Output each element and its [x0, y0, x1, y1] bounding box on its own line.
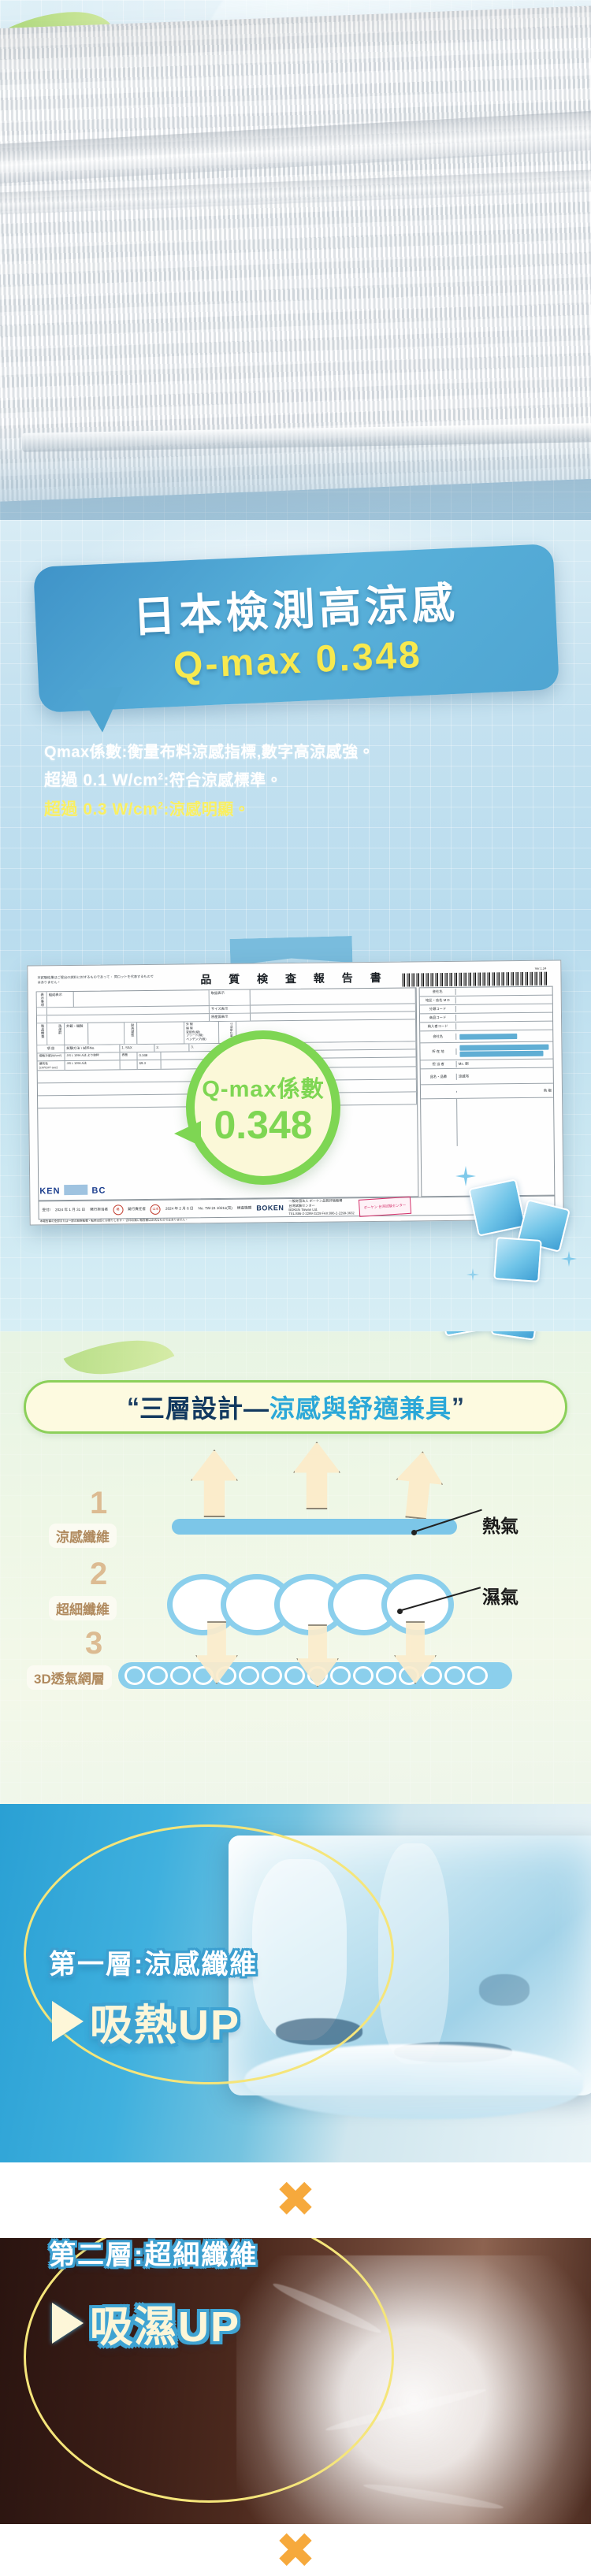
- cell-label: 表示事項: [37, 992, 47, 1007]
- cell-label: 洗濯前: [47, 1023, 65, 1045]
- appearance-row: ペンデング(級): [186, 1037, 206, 1041]
- result-cond: [121, 1060, 138, 1069]
- barcode-icon: [402, 972, 548, 987]
- certificate-section: 本試験結果はご提出の試料に対するものであって、 同ロットを代表するものではありま…: [0, 930, 591, 1331]
- seal-stamp-icon: 楊: [113, 1204, 123, 1215]
- play-triangle-icon: [52, 2001, 84, 2042]
- table-row: 会社名: [420, 1030, 552, 1044]
- mesh-hole-icon: [284, 1666, 305, 1685]
- hero-bottom-shade: [0, 425, 591, 520]
- cell-value: [137, 1023, 184, 1045]
- callout-heat: 熱氣: [482, 1511, 519, 1538]
- mesh-hole-icon: [330, 1666, 351, 1685]
- three-layer-heading: “ 三層設計— 涼感與舒適兼具 ”: [24, 1380, 567, 1434]
- desc3-rest: :涼感明顯。: [164, 801, 251, 818]
- mesh-hole-icon: [125, 1666, 145, 1685]
- boken-org: 一般財団法人: [288, 1199, 308, 1203]
- table-row: [421, 1098, 554, 1147]
- result-value: 69.3: [138, 1060, 162, 1069]
- col-header: 試験方法 \ 試料No.: [65, 1045, 120, 1052]
- result-method: JIS L 1096 A法 より抜粋: [65, 1052, 120, 1060]
- layer-number-3: 3: [85, 1626, 102, 1661]
- cell-value: [88, 1023, 125, 1044]
- boken-logo: BOKEN: [256, 1204, 284, 1212]
- result-item: 接触冷感(W/cm²): [37, 1053, 65, 1060]
- ice-cube-icon: [468, 1179, 526, 1237]
- layer2-photo-section: 第二層:超細纖維 吸濕UP ✖: [0, 2238, 591, 2576]
- heading-part-accent: 涼感與舒適兼具: [269, 1389, 452, 1425]
- mesh-hole-icon: [170, 1666, 191, 1685]
- product-detail-page: 日本檢測高涼感 Q-max 0.348 Qmax係數:衡量布料涼感指標,數字高涼…: [0, 0, 591, 2576]
- section-divider-2: ✖: [0, 2524, 591, 2576]
- appearance-row: ブリード(級): [186, 1034, 203, 1037]
- mesh-hole-icon: [376, 1666, 396, 1685]
- row-value: [456, 1008, 552, 1010]
- inspector-label: 検査機関: [237, 1206, 251, 1211]
- cell-label: 耐洗濯性: [125, 1023, 137, 1044]
- layer1-photo-section: 第一層:涼感纖維 吸熱UP: [0, 1804, 591, 2162]
- quote-open: “: [127, 1393, 139, 1422]
- mesh-hole-icon: [239, 1666, 259, 1685]
- callout-moisture: 濕氣: [482, 1582, 519, 1609]
- layer2-title: 第二層:超細纖維: [49, 2238, 258, 2272]
- heading-part-dark: 三層設計—: [139, 1389, 269, 1425]
- cell-value: [251, 988, 416, 1004]
- qmax-badge: Q-max係數 0.348: [186, 1030, 340, 1185]
- mesh-hole-icon: [467, 1666, 488, 1685]
- report-right-table: 会社名 地区・店名 M D 分類コード 商品コード 納入者コード 会社名 所 在…: [419, 986, 556, 1197]
- cell-label: 製品検査: [37, 1023, 47, 1045]
- row-value: [456, 1016, 552, 1019]
- ice-shadow: [479, 1974, 530, 2006]
- layer-label-3: 3D透氣網層: [27, 1665, 112, 1690]
- row-value: [456, 990, 552, 993]
- receipt-label: 受付/: [43, 1208, 51, 1212]
- redacted-bar: [459, 1034, 517, 1040]
- row-value: Ms. 劉: [457, 1060, 553, 1067]
- qmax-banner-line2: Q-max 0.348: [173, 633, 423, 687]
- desc3-lead: 超過 0.3 W/cm: [44, 800, 158, 818]
- desc2-sup: 2: [158, 770, 163, 781]
- mesh-hole-icon: [262, 1666, 282, 1685]
- boken-org2: ボーケン品質評価機構: [310, 1198, 343, 1202]
- row-label: 会社名: [420, 1034, 456, 1040]
- mesh-hole-icon: [147, 1666, 168, 1685]
- boken-org-block: 一般財団法人 ボーケン品質評価機構 台湾試験センター BOKEN Taiwan …: [288, 1198, 355, 1216]
- qmax-banner-section: 日本檢測高涼感 Q-max 0.348 Qmax係數:衡量布料涼感指標,數字高涼…: [0, 520, 591, 930]
- col-header: 項 目: [37, 1045, 65, 1052]
- result-cond: 表面: [120, 1052, 137, 1060]
- qmax-description: Qmax係數:衡量布料涼感指標,數字高涼感強。 超過 0.1 W/cm2:符合涼…: [44, 739, 556, 825]
- qmax-badge-value: 0.348: [214, 1105, 312, 1145]
- table-row: 品名・品番涼感布: [421, 1068, 553, 1086]
- section-divider-1: ✖: [0, 2162, 591, 2238]
- cell-label: 原産国表示: [210, 1014, 251, 1022]
- footer-disclaimer: 本報告書の全部または一部の無断転載・転用は固くお断りします。 公印の無い報告書は…: [40, 1218, 188, 1223]
- row-value: [456, 999, 552, 1001]
- cell-spacer: [37, 1015, 47, 1023]
- appearance-row: 縫 製: [186, 1026, 193, 1030]
- ice-cube-icon: [493, 1237, 542, 1282]
- result-method: JIS L 1096 A法: [65, 1060, 121, 1070]
- result-item: 通気性(cm³/cm²·sec): [38, 1061, 65, 1070]
- play-triangle-icon: [52, 2303, 84, 2344]
- report-version: Ver.1.24: [535, 967, 547, 971]
- mesh-hole-icon: [353, 1666, 374, 1685]
- row-label: [421, 1099, 458, 1146]
- quote-close: ”: [452, 1393, 464, 1422]
- issue-date: 2024 年 2 月 6 日: [165, 1206, 194, 1211]
- table-row: 色 版: [421, 1084, 553, 1100]
- row-label: [421, 1090, 457, 1092]
- row-value: [456, 1025, 552, 1027]
- row-label: 分類コード: [420, 1006, 456, 1012]
- desc3-sup: 2: [158, 800, 163, 811]
- layer1-headline-text: 吸熱UP: [90, 1990, 240, 2052]
- desc2-rest: :符合涼感標準。: [164, 772, 283, 789]
- row-label: 納入者コード: [420, 1023, 456, 1030]
- issuer-resp-label: 発行責任者: [128, 1207, 146, 1212]
- layer2-headline: 吸濕UP: [52, 2292, 240, 2354]
- hero-product-photo: [0, 0, 591, 520]
- redacted-bar: [459, 1045, 548, 1051]
- row-label: 商品コード: [420, 1015, 456, 1021]
- row-label: 地区・店名 M D: [420, 997, 456, 1004]
- layer1-headline: 吸熱UP: [52, 1990, 240, 2052]
- fiber-strand: [362, 2481, 504, 2512]
- seal-stamp-icon: 山本: [151, 1204, 161, 1214]
- close-icon: ✖: [275, 2176, 316, 2225]
- appearance-row: 外 観: [186, 1023, 193, 1026]
- row-value: [456, 1031, 552, 1041]
- mesh-hole-icon: [444, 1666, 465, 1685]
- qmax-desc-line1: Qmax係數:衡量布料涼感指標,數字高涼感強。: [44, 739, 556, 766]
- cell-label: サイズ表示: [210, 1006, 251, 1014]
- cell-label: 外観・縫製: [65, 1023, 88, 1045]
- cell-spacer: [37, 1008, 47, 1015]
- qmax-badge-label: Q-max係數: [202, 1071, 324, 1104]
- qmax-desc-line2: 超過 0.1 W/cm2:符合涼感標準。: [44, 766, 556, 796]
- boken-tel: TEL:886-2-2299-3229 FAX:886-2-2299-3632: [288, 1212, 354, 1216]
- cell-value: [74, 990, 210, 1007]
- row-value: [457, 1121, 553, 1123]
- ken-bc-logos: KENBC: [39, 1185, 106, 1197]
- col-header: 1. SAX: [120, 1045, 154, 1052]
- color-swatch: [64, 1185, 87, 1195]
- row-label: 所 在 地: [420, 1048, 456, 1054]
- col-header: 2.: [154, 1045, 189, 1052]
- qmax-desc-line3: 超過 0.3 W/cm2:涼感明顯。: [44, 796, 556, 825]
- qmax-banner-text: 日本檢測高涼感 Q-max 0.348: [33, 544, 559, 713]
- row-label: 担 当 者: [421, 1061, 457, 1067]
- product-name: 涼感布: [457, 1072, 553, 1079]
- table-row: 所 在 地: [420, 1042, 552, 1061]
- doc-no: No. TW-24 10211(完): [198, 1206, 232, 1211]
- cell-label: 組成表示: [47, 992, 74, 1008]
- row-label: 品名・品番: [421, 1073, 457, 1079]
- layer-number-2: 2: [90, 1557, 107, 1592]
- red-seal-stamp: ボーケン 台湾試験センター: [359, 1197, 411, 1217]
- redacted-bar: [459, 1051, 543, 1057]
- row-label: 会社名: [420, 989, 456, 995]
- receipt-date: 2024 年 1 月 31 日: [55, 1208, 85, 1212]
- bc-label: BC: [91, 1186, 106, 1196]
- three-layer-section: “ 三層設計— 涼感與舒適兼具 ” 1 涼感纖維 2 超細纖維: [0, 1331, 591, 1804]
- ken-label: KEN: [39, 1186, 60, 1196]
- close-icon: ✖: [275, 2527, 316, 2576]
- layer-label-1: 涼感纖維: [49, 1524, 117, 1548]
- issuer-label: 発行担当者: [90, 1208, 108, 1212]
- result-value: 0.348: [137, 1052, 161, 1060]
- layer-label-2: 超細纖維: [49, 1596, 117, 1620]
- row-value: [456, 1043, 552, 1059]
- cell-label: 取扱表示: [210, 990, 251, 1006]
- cell-appearance-labels: 外 観 縫 製 変退色(級) ブリード(級) ペンデング(級): [184, 1022, 219, 1043]
- layer-number-1: 1: [90, 1486, 107, 1521]
- desc2-lead: 超過 0.1 W/cm: [44, 771, 158, 789]
- layer1-title: 第一層:涼感纖維: [49, 1943, 258, 1981]
- color-label: 色 版: [457, 1087, 553, 1094]
- layer2-headline-text: 吸濕UP: [90, 2292, 240, 2354]
